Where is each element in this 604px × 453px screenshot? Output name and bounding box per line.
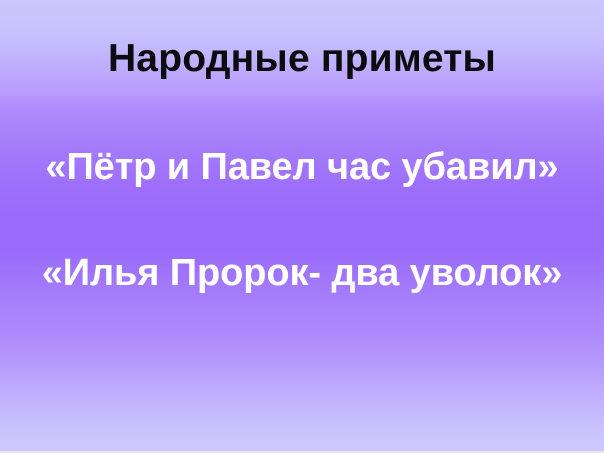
- folk-saying-line-2: «Илья Пророк- два уволок»: [0, 250, 604, 296]
- presentation-slide: Народные приметы «Пётр и Павел час убави…: [0, 0, 604, 453]
- folk-saying-line-1: «Пётр и Павел час убавил»: [0, 144, 604, 190]
- page-title: Народные приметы: [0, 36, 604, 82]
